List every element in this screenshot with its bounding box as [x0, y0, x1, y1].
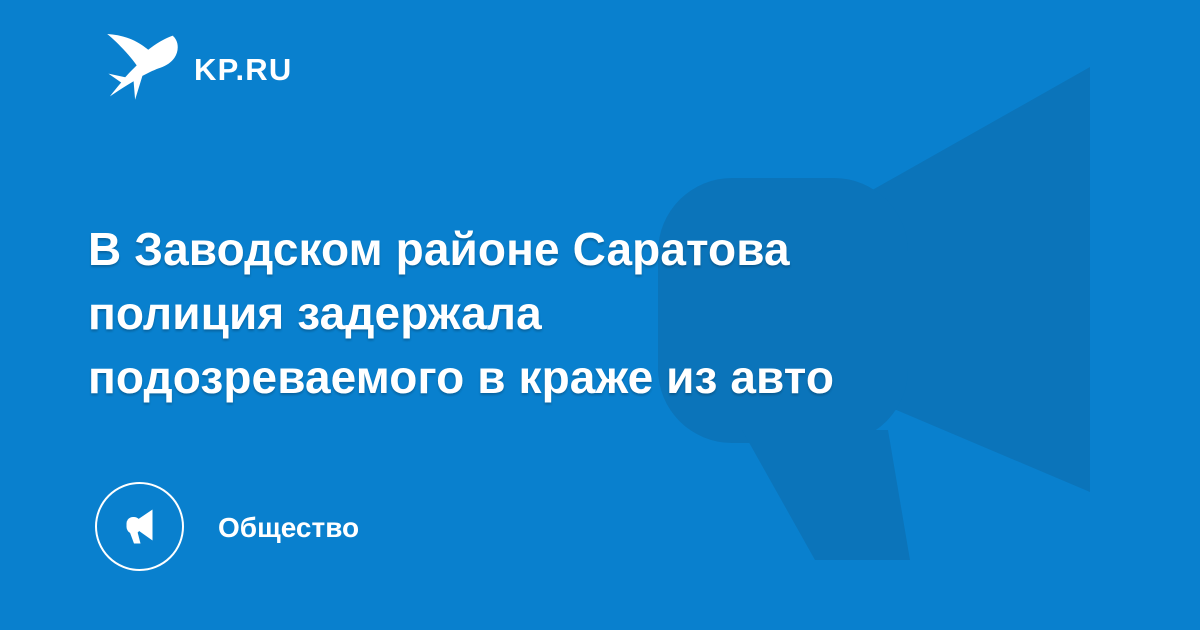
- category-icon-circle: [95, 482, 184, 571]
- brand-name: KP.RU: [194, 54, 292, 85]
- headline-line-1: В Заводском районе Саратова: [88, 217, 1068, 281]
- headline-line-2: полиция задержала: [88, 281, 1068, 345]
- share-card: KP.RU В Заводском районе Саратова полици…: [0, 0, 1200, 630]
- brand-logo[interactable]: KP.RU: [104, 33, 292, 101]
- megaphone-icon: [115, 502, 165, 552]
- category-label: Общество: [218, 514, 359, 542]
- category-badge[interactable]: Общество: [95, 482, 359, 571]
- swallow-bird-icon: [104, 33, 178, 101]
- headline-line-3: подозреваемого в краже из авто: [88, 345, 1068, 409]
- headline: В Заводском районе Саратова полиция заде…: [88, 217, 1068, 409]
